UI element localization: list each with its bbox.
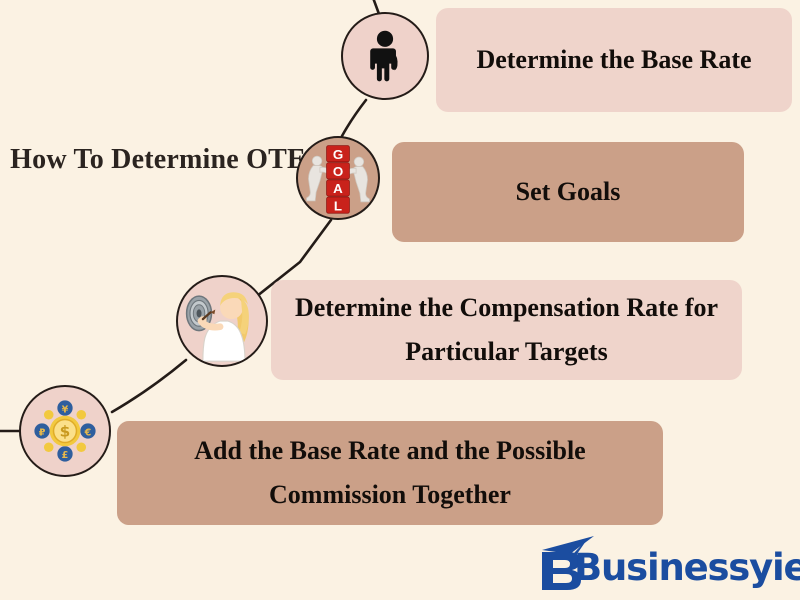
- svg-text:$: $: [60, 423, 71, 441]
- svg-text:O: O: [333, 164, 343, 179]
- step-icon-target: [176, 275, 268, 367]
- svg-text:A: A: [333, 181, 343, 196]
- infographic-canvas: How To Determine OTE Determine the Base …: [0, 0, 800, 600]
- svg-text:€: €: [84, 427, 92, 438]
- step-box-determine-base-rate[interactable]: Determine the Base Rate: [436, 8, 792, 112]
- step-icon-goal: G O A L: [296, 136, 380, 220]
- svg-text:₽: ₽: [39, 427, 46, 438]
- goal-blocks-icon: G O A L: [298, 138, 378, 218]
- logo-text: Businessyield: [574, 546, 800, 589]
- svg-text:£: £: [62, 450, 69, 461]
- money-coin-icon: ¥ £ ₽ € $: [21, 387, 109, 475]
- step-box-add-base-rate-commission[interactable]: Add the Base Rate and the Possible Commi…: [117, 421, 663, 525]
- svg-text:G: G: [333, 147, 343, 162]
- page-title: How To Determine OTE: [8, 138, 308, 182]
- step-box-set-goals[interactable]: Set Goals: [392, 142, 744, 242]
- step-box-compensation-rate[interactable]: Determine the Compensation Rate for Part…: [271, 280, 742, 380]
- svg-text:¥: ¥: [62, 404, 69, 415]
- dart-target-icon: [178, 277, 266, 365]
- person-icon: [343, 14, 427, 98]
- svg-text:L: L: [334, 198, 342, 213]
- step-icon-money: ¥ £ ₽ € $: [19, 385, 111, 477]
- step-icon-person: [341, 12, 429, 100]
- businessyield-logo[interactable]: Businessyield: [536, 534, 792, 592]
